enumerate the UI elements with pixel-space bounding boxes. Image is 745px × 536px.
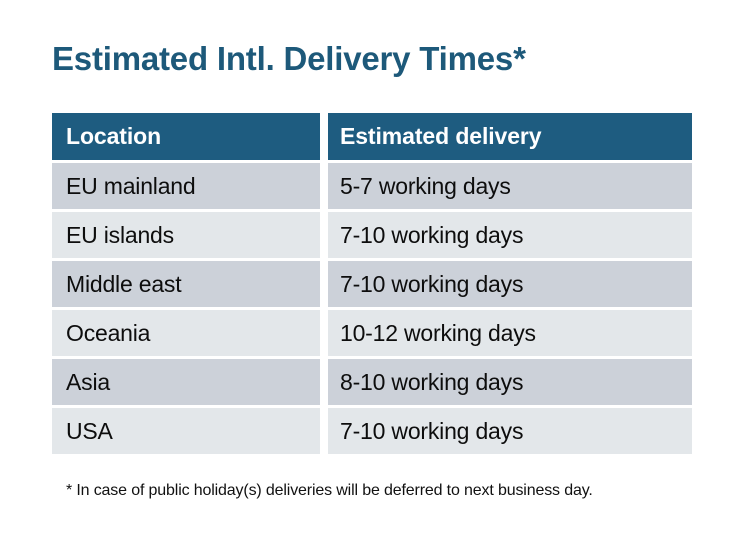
column-divider [320,113,328,160]
cell-divider [320,408,328,454]
table-row[interactable]: Oceania10-12 working days [52,310,692,356]
cell-divider [320,212,328,258]
cell-estimated-delivery: 8-10 working days [328,359,692,405]
table-row[interactable]: EU mainland5-7 working days [52,163,692,209]
table-row[interactable]: EU islands7-10 working days [52,212,692,258]
cell-location: USA [52,408,320,454]
table-body: EU mainland5-7 working daysEU islands7-1… [52,160,692,454]
delivery-times-page: Estimated Intl. Delivery Times* Location… [0,0,745,536]
cell-location: Oceania [52,310,320,356]
cell-estimated-delivery: 10-12 working days [328,310,692,356]
cell-estimated-delivery: 7-10 working days [328,212,692,258]
column-header-estimated-delivery[interactable]: Estimated delivery [328,113,692,160]
cell-estimated-delivery: 7-10 working days [328,408,692,454]
cell-divider [320,359,328,405]
table-header-row: Location Estimated delivery [52,113,692,160]
column-header-location[interactable]: Location [52,113,320,160]
cell-divider [320,310,328,356]
cell-divider [320,261,328,307]
table-row[interactable]: Asia8-10 working days [52,359,692,405]
cell-estimated-delivery: 5-7 working days [328,163,692,209]
cell-divider [320,163,328,209]
cell-location: Asia [52,359,320,405]
table-header: Location Estimated delivery [52,113,692,160]
table-row[interactable]: Middle east7-10 working days [52,261,692,307]
page-title: Estimated Intl. Delivery Times* [52,38,526,80]
cell-location: EU mainland [52,163,320,209]
footnote-text: * In case of public holiday(s) deliverie… [66,481,593,501]
cell-estimated-delivery: 7-10 working days [328,261,692,307]
cell-location: EU islands [52,212,320,258]
delivery-times-table: Location Estimated delivery EU mainland5… [52,113,692,454]
table-row[interactable]: USA7-10 working days [52,408,692,454]
cell-location: Middle east [52,261,320,307]
